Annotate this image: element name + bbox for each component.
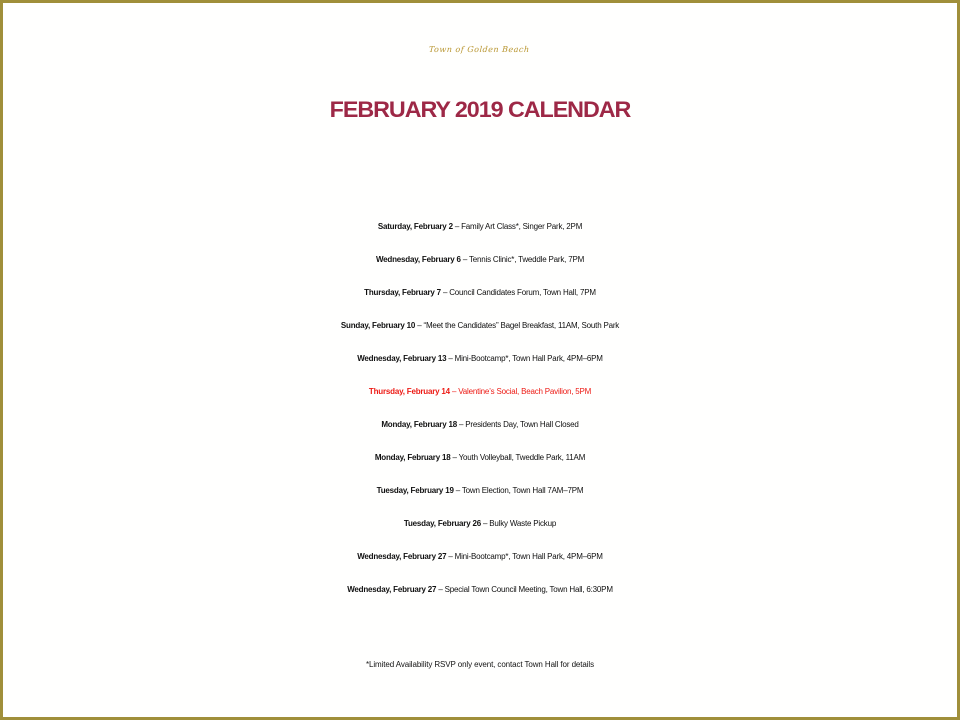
event-date: Thursday, February 14 [369, 387, 450, 396]
event-separator: – [450, 453, 458, 462]
event-date: Thursday, February 7 [364, 288, 441, 297]
event-line: Sunday, February 10 – “Meet the Candidat… [3, 309, 957, 342]
event-separator: – [450, 387, 458, 396]
event-line: Thursday, February 14 – Valentine’s Soci… [3, 375, 957, 408]
event-line: Wednesday, February 27 – Mini-Bootcamp*,… [3, 540, 957, 573]
calendar-poster: Town of Golden Beach FEBRUARY 2019 CALEN… [0, 0, 960, 720]
page-title: FEBRUARY 2019 CALENDAR [0, 75, 960, 143]
event-description: Family Art Class*, Singer Park, 2PM [461, 222, 582, 231]
event-separator: – [454, 486, 462, 495]
event-line: Thursday, February 7 – Council Candidate… [3, 276, 957, 309]
event-date: Saturday, February 2 [378, 222, 453, 231]
event-date: Sunday, February 10 [341, 321, 415, 330]
event-separator: – [446, 354, 454, 363]
event-date: Wednesday, February 13 [357, 354, 446, 363]
event-description: Mini-Bootcamp*, Town Hall Park, 4PM–6PM [455, 354, 603, 363]
event-description: Mini-Bootcamp*, Town Hall Park, 4PM–6PM [455, 552, 603, 561]
event-description: Youth Volleyball, Tweddle Park, 11AM [459, 453, 586, 462]
event-date: Tuesday, February 26 [404, 519, 481, 528]
event-date: Wednesday, February 27 [357, 552, 446, 561]
event-date: Monday, February 18 [375, 453, 451, 462]
town-name-script-title: Town of Golden Beach [0, 3, 959, 75]
event-date: Wednesday, February 27 [347, 585, 436, 594]
event-description: Tennis Clinic*, Tweddle Park, 7PM [469, 255, 584, 264]
event-description: Valentine’s Social, Beach Pavilion, 5PM [458, 387, 591, 396]
poster-header: Town of Golden Beach FEBRUARY 2019 CALEN… [3, 3, 957, 143]
event-date: Monday, February 18 [381, 420, 457, 429]
footnote-text: *Limited Availability RSVP only event, c… [3, 653, 957, 677]
event-line: Tuesday, February 19 – Town Election, To… [3, 474, 957, 507]
event-separator: – [441, 288, 449, 297]
event-line: Wednesday, February 13 – Mini-Bootcamp*,… [3, 342, 957, 375]
event-line: Saturday, February 2 – Family Art Class*… [3, 210, 957, 243]
event-list: Saturday, February 2 – Family Art Class*… [3, 210, 957, 606]
event-line: Wednesday, February 27 – Special Town Co… [3, 573, 957, 606]
event-line: Monday, February 18 – Youth Volleyball, … [3, 441, 957, 474]
event-description: Council Candidates Forum, Town Hall, 7PM [449, 288, 596, 297]
event-separator: – [461, 255, 469, 264]
event-line: Monday, February 18 – Presidents Day, To… [3, 408, 957, 441]
event-description: “Meet the Candidates” Bagel Breakfast, 1… [423, 321, 619, 330]
event-description: Special Town Council Meeting, Town Hall,… [445, 585, 613, 594]
event-separator: – [453, 222, 461, 231]
event-line: Tuesday, February 26 – Bulky Waste Picku… [3, 507, 957, 540]
event-description: Town Election, Town Hall 7AM–7PM [462, 486, 584, 495]
event-line: Wednesday, February 6 – Tennis Clinic*, … [3, 243, 957, 276]
event-description: Presidents Day, Town Hall Closed [465, 420, 578, 429]
event-date: Wednesday, February 6 [376, 255, 461, 264]
event-separator: – [446, 552, 454, 561]
event-description: Bulky Waste Pickup [489, 519, 556, 528]
event-date: Tuesday, February 19 [377, 486, 454, 495]
event-separator: – [436, 585, 444, 594]
